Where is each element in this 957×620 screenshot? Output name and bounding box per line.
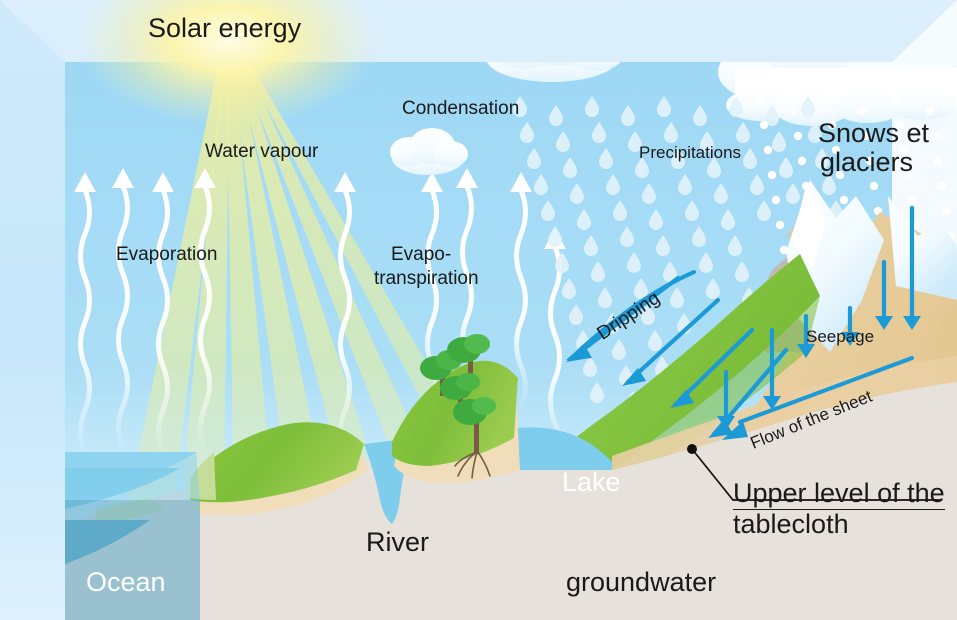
snow-dot-icon <box>798 157 806 165</box>
snow-dot-icon <box>892 96 900 104</box>
label-water-vapour: Water vapour <box>205 142 318 163</box>
label-seepage: Seepage <box>806 328 874 346</box>
snow-dot-icon <box>772 196 780 204</box>
label-upper-level-line1: Upper level of the <box>733 479 945 510</box>
snow-dot-icon <box>764 146 772 154</box>
snow-dot-icon <box>824 96 832 104</box>
snow-dot-icon <box>930 132 938 140</box>
label-evaporation: Evaporation <box>116 245 217 266</box>
snow-dot-icon <box>794 132 802 140</box>
bevel-left <box>0 0 65 620</box>
label-river: River <box>366 528 429 557</box>
label-lake: Lake <box>562 468 621 497</box>
snow-dot-icon <box>840 196 848 204</box>
label-solar-energy: Solar energy <box>148 14 301 43</box>
label-groundwater: groundwater <box>566 568 716 597</box>
label-snows-glaciers-line2: glaciers <box>820 148 913 177</box>
label-evapotranspiration-line1: Evapo- <box>391 245 451 266</box>
snow-dot-icon <box>858 107 866 115</box>
label-evapotranspiration-line2: transpiration <box>374 269 479 290</box>
snow-dot-icon <box>908 196 916 204</box>
label-snows-glaciers-line1: Snows et <box>818 119 929 148</box>
label-precipitations: Precipitations <box>639 144 741 162</box>
snow-dot-icon <box>768 171 776 179</box>
snow-dot-icon <box>942 207 950 215</box>
snow-dot-icon <box>938 182 946 190</box>
snow-dot-icon <box>926 107 934 115</box>
snow-dot-icon <box>776 221 784 229</box>
label-upper-level-line2: tablecloth <box>733 510 849 539</box>
snow-dot-icon <box>934 157 942 165</box>
label-ocean: Ocean <box>86 568 166 597</box>
label-condensation: Condensation <box>402 99 519 120</box>
snow-dot-icon <box>790 107 798 115</box>
snow-dot-icon <box>760 121 768 129</box>
snow-dot-icon <box>870 182 878 190</box>
water-cycle-diagram: Solar energy Water vapour Evaporation Ev… <box>0 0 957 620</box>
snow-dot-icon <box>756 96 764 104</box>
